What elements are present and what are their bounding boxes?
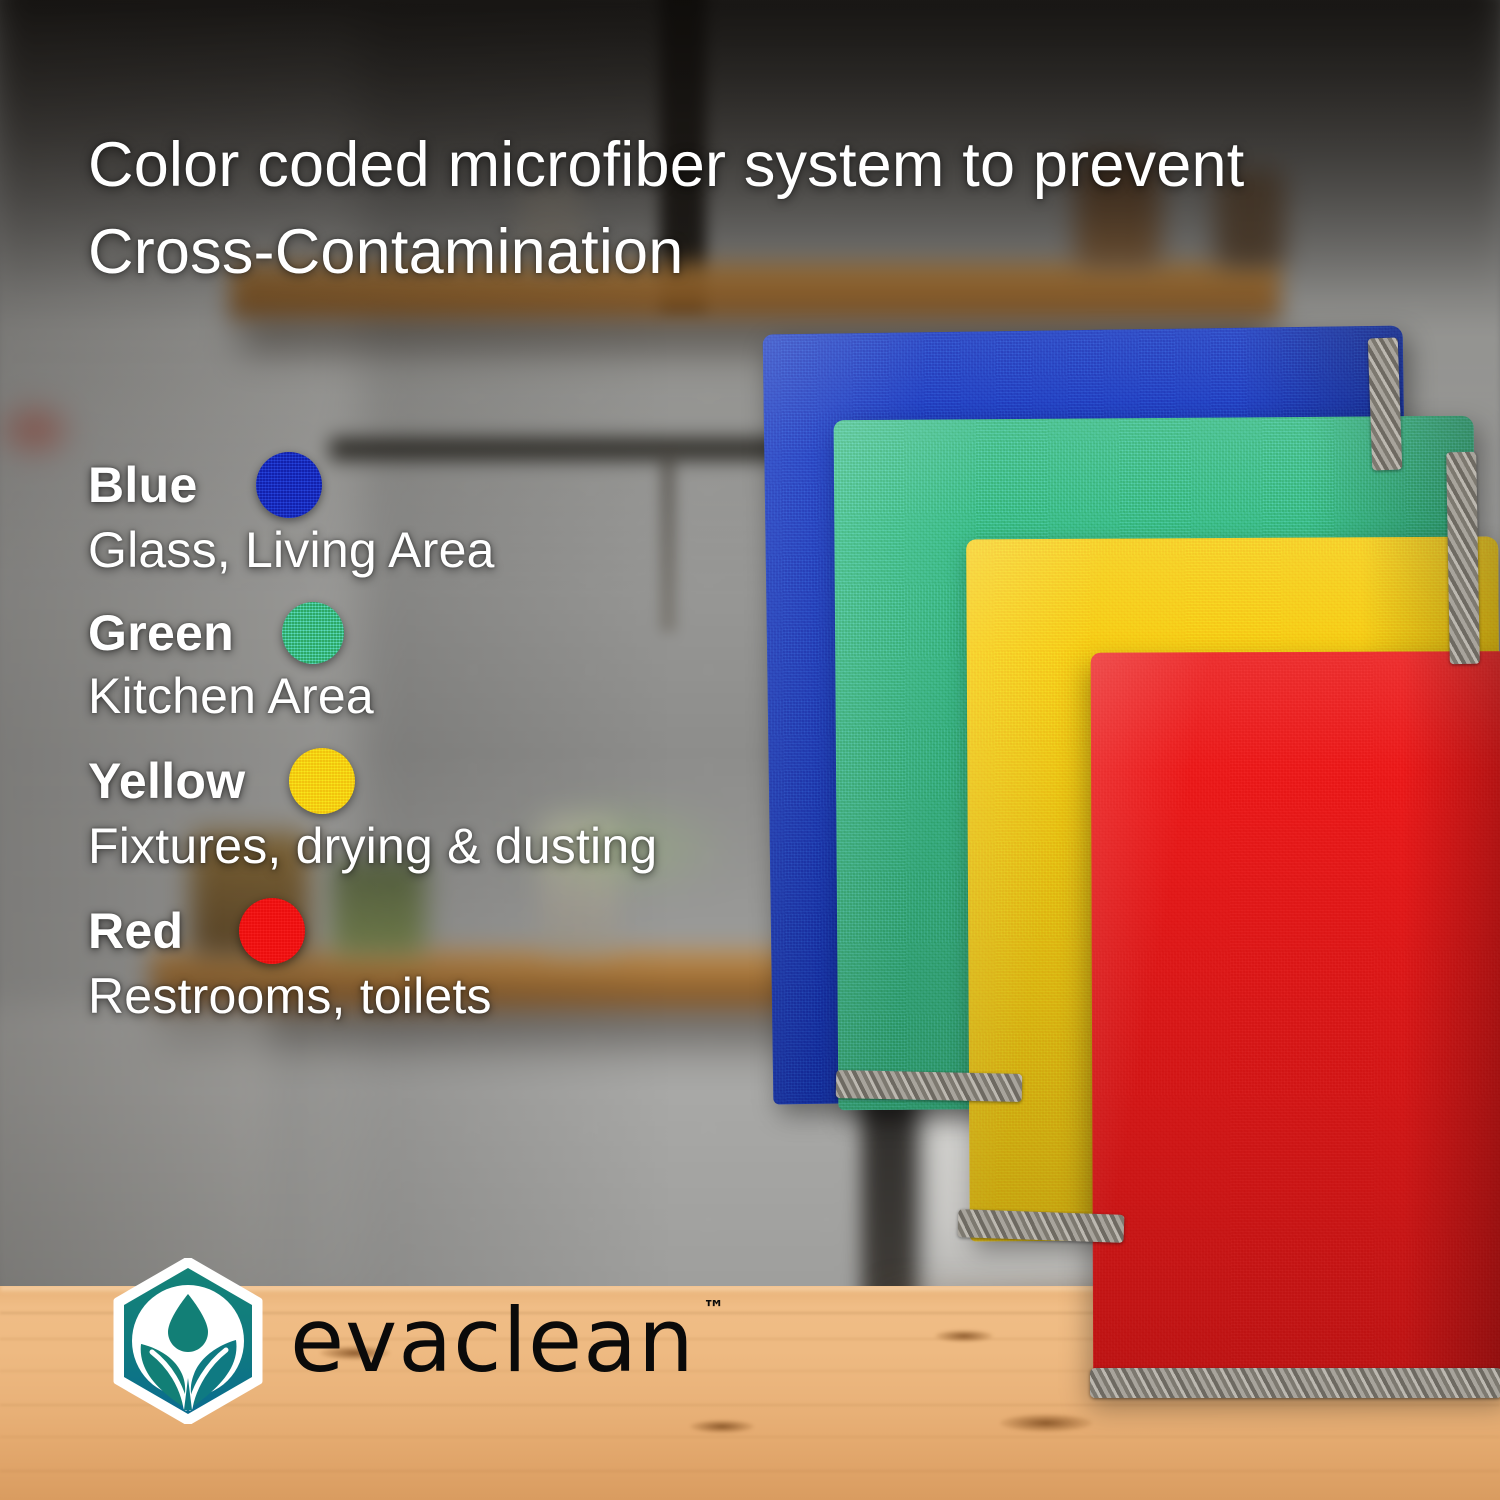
legend-color-name: Yellow — [88, 755, 245, 807]
headline-line-1: Color coded microfiber system to prevent — [88, 122, 1418, 209]
red-cloth-bottom-binding — [1090, 1368, 1500, 1398]
trademark-symbol: ™ — [703, 1299, 725, 1321]
legend-color-description: Fixtures, drying & dusting — [88, 818, 848, 874]
legend-color-description: Glass, Living Area — [88, 522, 848, 578]
wordmark-text: evaclean — [290, 1289, 695, 1392]
legend-color-name: Red — [88, 905, 183, 957]
legend-color-description: Kitchen Area — [88, 668, 848, 724]
page-title: Color coded microfiber system to prevent… — [88, 122, 1418, 296]
yellow-cloth-bottom-binding — [958, 1209, 1125, 1243]
red-color-swatch — [239, 898, 305, 964]
green-cloth-edge-binding — [1446, 452, 1480, 664]
headline-line-2: Cross-Contamination — [88, 209, 1418, 296]
blue-color-swatch — [256, 452, 322, 518]
legend-item-yellow: Yellow Fixtures, drying & dusting — [88, 748, 848, 874]
legend-color-name: Blue — [88, 459, 198, 511]
brand-wordmark: evaclean ™ — [290, 1297, 695, 1385]
red-microfiber-cloth — [1091, 651, 1500, 1394]
evaclean-hexagon-leaf-droplet-logo — [112, 1258, 264, 1424]
product-infographic: Color coded microfiber system to prevent… — [0, 0, 1500, 1500]
green-cloth-bottom-binding — [836, 1070, 1023, 1102]
green-color-swatch — [282, 602, 344, 664]
legend-color-name: Green — [88, 607, 234, 659]
legend-item-blue: Blue Glass, Living Area — [88, 452, 848, 578]
blue-cloth-edge-binding — [1368, 338, 1403, 471]
legend-item-green: Green Kitchen Area — [88, 602, 848, 724]
yellow-color-swatch — [289, 748, 355, 814]
brand-logo: evaclean ™ — [112, 1258, 695, 1424]
legend-color-description: Restrooms, toilets — [88, 968, 848, 1024]
color-code-legend: Blue Glass, Living Area Green Kitchen Ar… — [88, 452, 848, 1040]
legend-item-red: Red Restrooms, toilets — [88, 898, 848, 1024]
